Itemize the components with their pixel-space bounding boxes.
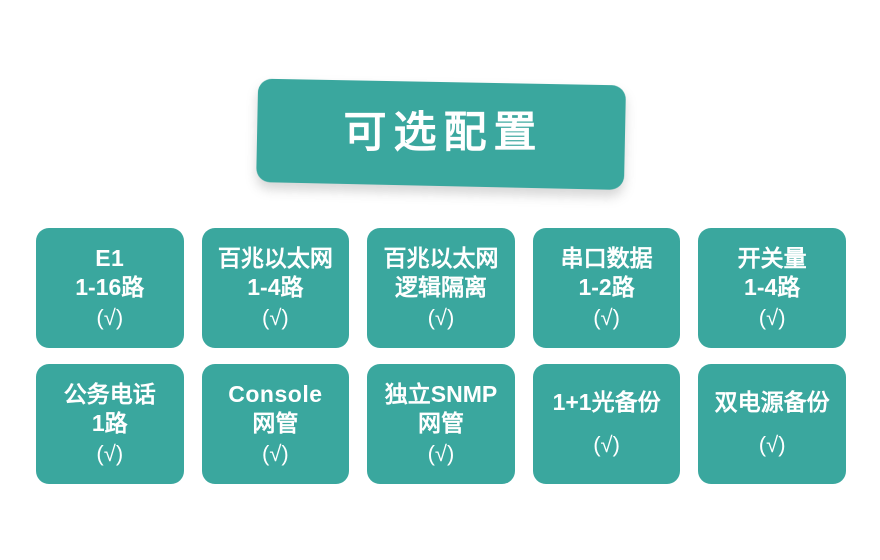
feature-card-fast-ethernet[interactable]: 百兆以太网 1-4路 (√) <box>202 228 350 348</box>
feature-card-label-line-1: 双电源备份 <box>715 388 830 417</box>
check-mark-icon: (√) <box>96 440 123 469</box>
feature-card-console-management[interactable]: Console 网管 (√) <box>202 364 350 484</box>
feature-card-label-line-2: 1-4路 <box>744 273 800 302</box>
feature-card-grid: E1 1-16路 (√) 百兆以太网 1-4路 (√) 百兆以太网 逻辑隔离 (… <box>36 228 846 484</box>
check-mark-icon: (√) <box>262 440 289 469</box>
check-mark-icon: (√) <box>428 304 455 333</box>
feature-card-label-line-2: 1-16路 <box>75 273 144 302</box>
feature-card-label-line-1: 百兆以太网 <box>383 244 498 273</box>
feature-card-label-line-1: 百兆以太网 <box>218 244 333 273</box>
feature-card-independent-snmp[interactable]: 独立SNMP 网管 (√) <box>367 364 515 484</box>
feature-card-label-line-2: 1路 <box>92 409 128 438</box>
feature-card-serial-data[interactable]: 串口数据 1-2路 (√) <box>533 228 681 348</box>
feature-card-label-line-2: 网管 <box>418 409 464 438</box>
check-mark-icon: (√) <box>759 304 786 333</box>
feature-card-fast-ethernet-isolation[interactable]: 百兆以太网 逻辑隔离 (√) <box>367 228 515 348</box>
feature-card-label-line-1: 串口数据 <box>561 244 653 273</box>
check-mark-icon: (√) <box>428 440 455 469</box>
page-title: 可选配置 <box>256 82 624 186</box>
feature-card-label-line-1: 1+1光备份 <box>553 388 661 417</box>
check-mark-icon: (√) <box>759 431 786 460</box>
feature-card-label-line-1: 公务电话 <box>64 380 156 409</box>
feature-card-service-phone[interactable]: 公务电话 1路 (√) <box>36 364 184 484</box>
feature-card-dual-power-redundancy[interactable]: 双电源备份 (√) <box>698 364 846 484</box>
feature-card-optical-redundancy[interactable]: 1+1光备份 (√) <box>533 364 681 484</box>
feature-card-label-line-2: 1-2路 <box>578 273 634 302</box>
check-mark-icon: (√) <box>593 431 620 460</box>
feature-card-switching-value[interactable]: 开关量 1-4路 (√) <box>698 228 846 348</box>
optional-configuration-page: 可选配置 E1 1-16路 (√) 百兆以太网 1-4路 (√) 百兆以太网 逻… <box>0 0 880 560</box>
feature-card-label-line-1: Console <box>228 380 322 409</box>
feature-card-e1[interactable]: E1 1-16路 (√) <box>36 228 184 348</box>
page-title-banner: 可选配置 <box>256 82 624 186</box>
feature-card-label-line-1: E1 <box>95 244 124 273</box>
feature-card-label-line-2: 1-4路 <box>247 273 303 302</box>
feature-card-label-line-1: 独立SNMP <box>385 380 497 409</box>
check-mark-icon: (√) <box>262 304 289 333</box>
feature-card-row-1: E1 1-16路 (√) 百兆以太网 1-4路 (√) 百兆以太网 逻辑隔离 (… <box>36 228 846 348</box>
check-mark-icon: (√) <box>593 304 620 333</box>
feature-card-label-line-1: 开关量 <box>738 244 807 273</box>
check-mark-icon: (√) <box>96 304 123 333</box>
feature-card-row-2: 公务电话 1路 (√) Console 网管 (√) 独立SNMP 网管 (√)… <box>36 364 846 484</box>
feature-card-label-line-2: 网管 <box>252 409 298 438</box>
feature-card-label-line-2: 逻辑隔离 <box>395 273 487 302</box>
